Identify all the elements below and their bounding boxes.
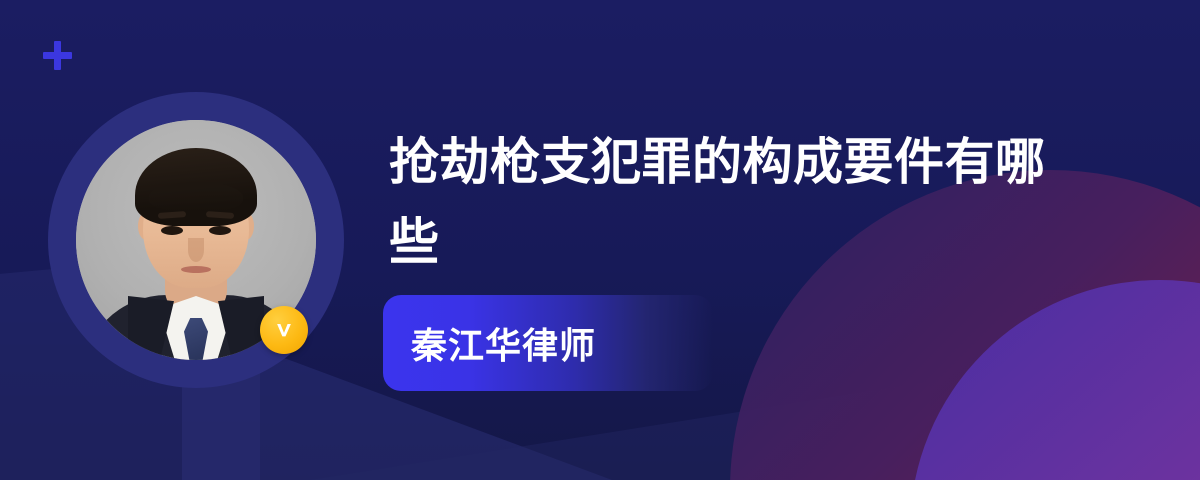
banner-content: 抢劫枪支犯罪的构成要件有哪些 秦江华律师 bbox=[389, 0, 1129, 480]
verified-check-icon bbox=[260, 306, 308, 354]
plus-icon bbox=[43, 41, 72, 70]
avatar bbox=[48, 92, 344, 388]
author-name-badge[interactable]: 秦江华律师 bbox=[383, 295, 713, 391]
author-name-label: 秦江华律师 bbox=[383, 317, 596, 369]
legal-qa-banner: 抢劫枪支犯罪的构成要件有哪些 秦江华律师 bbox=[0, 0, 1200, 480]
page-title: 抢劫枪支犯罪的构成要件有哪些 bbox=[389, 122, 1089, 282]
